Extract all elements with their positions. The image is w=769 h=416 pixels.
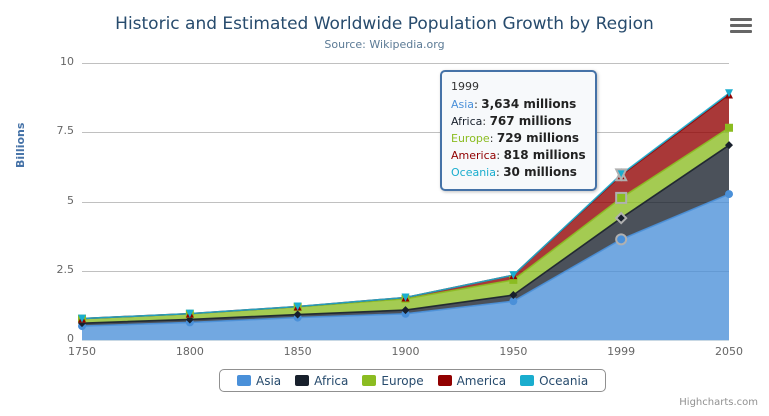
y-axis-tick-label: 5 — [34, 194, 74, 207]
point-europe-1999[interactable] — [616, 193, 626, 203]
legend-item-label: Oceania — [539, 374, 588, 388]
tooltip-separator: : — [496, 149, 503, 162]
x-axis-tick-label[interactable]: 1800 — [155, 345, 225, 358]
tooltip-separator: : — [490, 132, 497, 145]
tooltip-rows: Asia: 3,634 millionsAfrica: 767 millions… — [451, 96, 586, 181]
point-asia-1999[interactable] — [616, 234, 626, 244]
legend-item-label: America — [457, 374, 507, 388]
series-group — [82, 63, 729, 340]
tooltip-series-value: 818 millions — [504, 148, 586, 162]
legend-swatch-icon — [295, 375, 309, 386]
y-axis-tick-label: 7.5 — [34, 124, 74, 137]
x-axis-tick-label[interactable]: 1750 — [47, 345, 117, 358]
y-axis-tick-label: 10 — [34, 55, 74, 68]
legend-item-europe[interactable]: Europe — [362, 374, 423, 388]
x-axis-tick-label[interactable]: 1900 — [371, 345, 441, 358]
tooltip-series-name: Asia — [451, 98, 474, 111]
x-axis-line — [82, 340, 729, 341]
tooltip-series-name: Africa — [451, 115, 482, 128]
tooltip: 1999 Asia: 3,634 millionsAfrica: 767 mil… — [440, 70, 597, 191]
legend-swatch-icon — [520, 375, 534, 386]
hamburger-bar — [730, 18, 752, 21]
legend-item-africa[interactable]: Africa — [295, 374, 348, 388]
legend-swatch-icon — [362, 375, 376, 386]
hamburger-bar — [730, 30, 752, 33]
legend-item-label: Asia — [256, 374, 281, 388]
tooltip-row-europe: Europe: 729 millions — [451, 130, 586, 147]
hamburger-bar — [730, 24, 752, 27]
x-axis-tick-label[interactable]: 1999 — [586, 345, 656, 358]
legend: AsiaAfricaEuropeAmericaOceania — [219, 369, 606, 392]
y-axis-tick-label: 2.5 — [34, 263, 74, 276]
tooltip-separator: : — [482, 115, 489, 128]
legend-swatch-icon — [237, 375, 251, 386]
legend-item-label: Europe — [381, 374, 423, 388]
hamburger-menu-icon[interactable] — [730, 18, 752, 36]
y-axis-tick-label: 0 — [34, 332, 74, 345]
highcharts-container: Historic and Estimated Worldwide Populat… — [0, 0, 769, 416]
tooltip-row-oceania: Oceania: 30 millions — [451, 164, 586, 181]
tooltip-row-africa: Africa: 767 millions — [451, 113, 586, 130]
chart-title: Historic and Estimated Worldwide Populat… — [0, 14, 769, 34]
legend-item-label: Africa — [314, 374, 348, 388]
tooltip-row-asia: Asia: 3,634 millions — [451, 96, 586, 113]
tooltip-series-name: Oceania — [451, 166, 496, 179]
tooltip-header: 1999 — [451, 79, 586, 95]
tooltip-series-value: 30 millions — [503, 165, 577, 179]
tooltip-series-name: America — [451, 149, 496, 162]
y-axis-title: Billions — [14, 123, 27, 168]
legend-swatch-icon — [438, 375, 452, 386]
plot-area — [82, 63, 729, 340]
tooltip-series-value: 3,634 millions — [481, 97, 576, 111]
legend-item-america[interactable]: America — [438, 374, 507, 388]
credits-link[interactable]: Highcharts.com — [679, 397, 758, 408]
legend-item-oceania[interactable]: Oceania — [520, 374, 588, 388]
point-europe-2050[interactable] — [725, 124, 733, 132]
chart-subtitle: Source: Wikipedia.org — [0, 38, 769, 51]
tooltip-series-value: 767 millions — [490, 114, 572, 128]
x-axis-tick-label[interactable]: 2050 — [694, 345, 764, 358]
x-axis-tick-label[interactable]: 1950 — [478, 345, 548, 358]
x-axis-tick-label[interactable]: 1850 — [263, 345, 333, 358]
legend-item-asia[interactable]: Asia — [237, 374, 281, 388]
point-asia-2050[interactable] — [725, 190, 733, 198]
tooltip-series-name: Europe — [451, 132, 490, 145]
tooltip-series-value: 729 millions — [497, 131, 579, 145]
tooltip-row-america: America: 818 millions — [451, 147, 586, 164]
